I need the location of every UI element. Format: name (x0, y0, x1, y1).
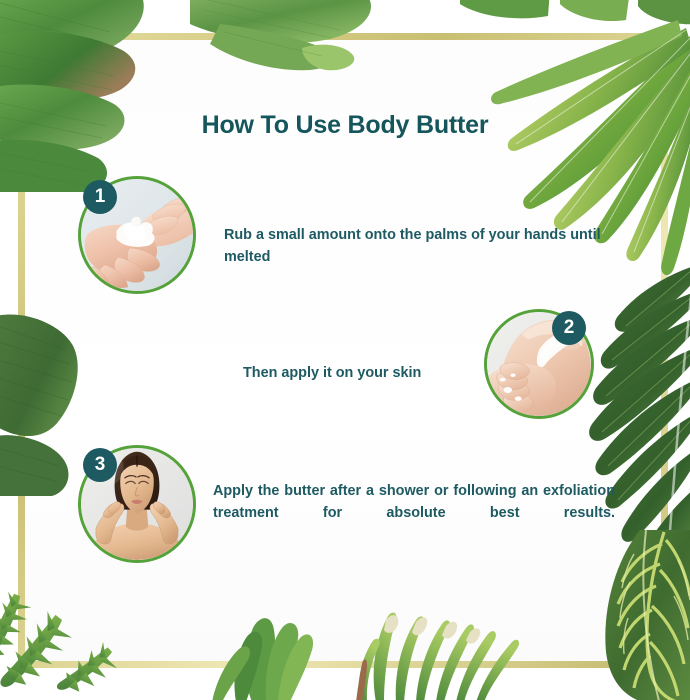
step-2-badge: 2 (552, 311, 586, 345)
page-title: How To Use Body Butter (0, 111, 690, 140)
step-3-badge: 3 (83, 448, 117, 482)
step-2-text: Then apply it on your skin (243, 362, 473, 384)
step-1-badge: 1 (83, 180, 117, 214)
step-1-text: Rub a small amount onto the palms of you… (224, 224, 614, 268)
content-layer: How To Use Body Butter (0, 0, 690, 700)
step-3-text: Apply the butter after a shower or follo… (213, 480, 615, 524)
infographic-canvas: How To Use Body Butter (0, 0, 690, 700)
